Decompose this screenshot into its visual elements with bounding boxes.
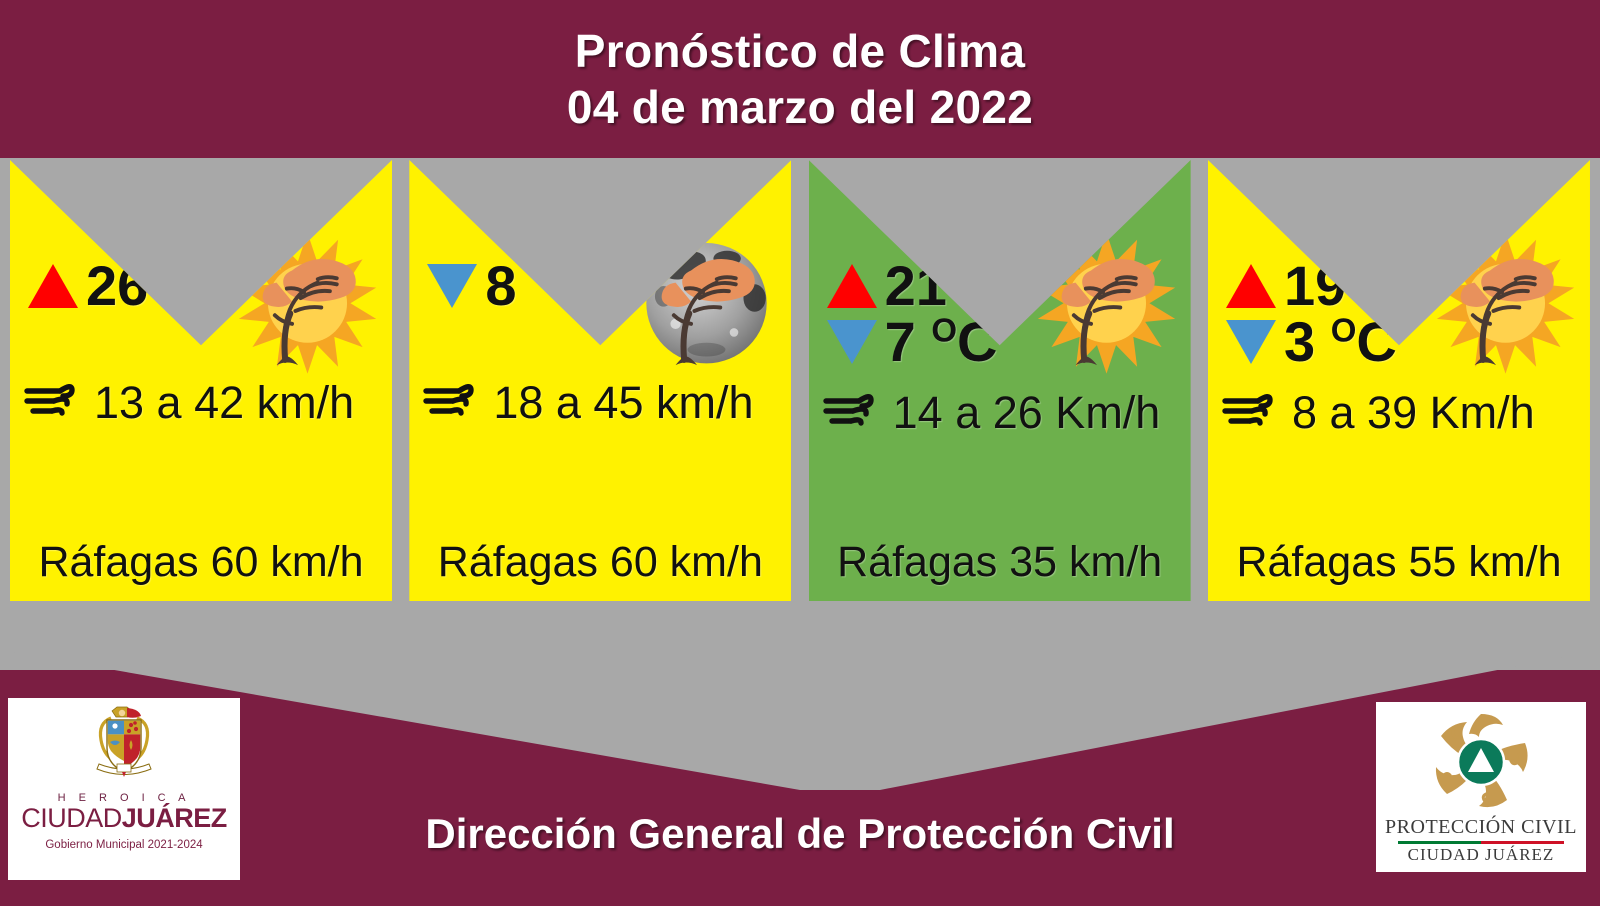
proteccion-civil-line2: CIUDAD JUÁREZ <box>1408 845 1555 865</box>
wind-icon <box>423 378 485 422</box>
header: Pronóstico de Clima 04 de marzo del 2022 <box>0 0 1600 158</box>
forecast-day-label: Domingo <box>1208 182 1590 211</box>
wind-icon <box>24 378 86 427</box>
high-temperature-value: 19 OC <box>1284 258 1428 314</box>
temperature-up-triangle-icon <box>28 264 78 308</box>
heroica-ciudad-juarez-logo: H E R O I C A CIUDADJUÁREZ Gobierno Muni… <box>8 698 240 880</box>
logo-ciudad-juarez-text: CIUDADJUÁREZ <box>21 804 227 832</box>
low-temperature-value: 3 OC <box>1284 314 1397 370</box>
wind-icon <box>823 388 885 437</box>
page-title-line1: Pronóstico de Clima <box>575 23 1025 79</box>
high-temperature-value: 21 OC <box>885 258 1029 314</box>
wind-row: 18 a 45 km/h <box>423 378 753 427</box>
low-temperature-row: 8 OC <box>427 255 727 317</box>
temperature-block: 21 OC7 OC <box>827 255 1127 373</box>
wind-icon <box>823 388 885 432</box>
mexico-flag-bars <box>1398 841 1564 844</box>
low-temperature-value: 8 OC <box>485 258 598 314</box>
logo-gobierno-text: Gobierno Municipal 2021-2024 <box>45 839 202 851</box>
temperature-up-triangle-icon <box>827 264 877 308</box>
wind-icon <box>24 378 86 422</box>
page-title-line2: 04 de marzo del 2022 <box>567 79 1033 135</box>
high-temperature-row: 19 OC <box>1226 255 1526 317</box>
flag-bar-green <box>1398 841 1481 844</box>
footer-title: Dirección General de Protección Civil <box>0 810 1600 858</box>
temperature-down-triangle-icon <box>1226 320 1276 364</box>
forecast-day-label: Hoy <box>10 182 392 211</box>
high-temperature-row: 26 OC <box>28 255 328 317</box>
temperature-block: 19 OC3 OC <box>1226 255 1526 373</box>
forecast-card-2[interactable]: Esta Noche8 OC18 a 45 km/hRáfagas 60 km/… <box>409 160 791 601</box>
wind-gusts-text: Ráfagas 35 km/h <box>809 538 1191 587</box>
wind-icon <box>1222 388 1284 437</box>
low-temperature-value: 7 OC <box>885 314 998 370</box>
proteccion-civil-emblem-icon <box>1429 710 1533 814</box>
temperature-block: 8 OC <box>427 255 727 317</box>
temperature-down-triangle-icon <box>827 320 877 364</box>
coat-of-arms-icon <box>87 704 161 790</box>
temperature-down-triangle-icon <box>427 264 477 308</box>
forecast-card-3[interactable]: Sábado21 OC7 OC14 a 26 Km/hRáfagas 35 km… <box>809 160 1191 601</box>
logo-ciudad-word: CIUDAD <box>21 803 122 833</box>
forecast-day-label: Esta Noche <box>409 182 791 211</box>
forecast-card-row: Hoy26 OC13 a 42 km/hRáfagas 60 km/hEsta … <box>0 160 1600 605</box>
wind-gusts-text: Ráfagas 60 km/h <box>409 538 791 587</box>
high-temperature-value: 26 OC <box>86 258 230 314</box>
wind-speed-text: 13 a 42 km/h <box>94 380 354 425</box>
forecast-card-1[interactable]: Hoy26 OC13 a 42 km/hRáfagas 60 km/h <box>10 160 392 601</box>
wind-speed-text: 8 a 39 Km/h <box>1292 390 1535 435</box>
proteccion-civil-logo: PROTECCIÓN CIVIL CIUDAD JUÁREZ <box>1376 702 1586 872</box>
high-temperature-row: 21 OC <box>827 255 1127 317</box>
flag-bar-red <box>1481 841 1564 844</box>
low-temperature-row: 3 OC <box>1226 311 1526 373</box>
wind-icon <box>423 378 485 427</box>
panel-chevron <box>0 650 1600 790</box>
wind-speed-text: 14 a 26 Km/h <box>893 390 1161 435</box>
wind-speed-text: 18 a 45 km/h <box>493 380 753 425</box>
proteccion-civil-line1: PROTECCIÓN CIVIL <box>1385 816 1577 839</box>
forecast-day-label: Sábado <box>809 182 1191 211</box>
wind-gusts-text: Ráfagas 60 km/h <box>10 538 392 587</box>
low-temperature-row: 7 OC <box>827 311 1127 373</box>
temperature-up-triangle-icon <box>1226 264 1276 308</box>
wind-row: 14 a 26 Km/h <box>823 388 1161 437</box>
forecast-card-4[interactable]: Domingo19 OC3 OC8 a 39 Km/hRáfagas 55 km… <box>1208 160 1590 601</box>
wind-gusts-text: Ráfagas 55 km/h <box>1208 538 1590 587</box>
wind-row: 13 a 42 km/h <box>24 378 354 427</box>
wind-row: 8 a 39 Km/h <box>1222 388 1535 437</box>
wind-icon <box>1222 388 1284 432</box>
temperature-block: 26 OC <box>28 255 328 317</box>
logo-juarez-word: JUÁREZ <box>122 803 227 833</box>
